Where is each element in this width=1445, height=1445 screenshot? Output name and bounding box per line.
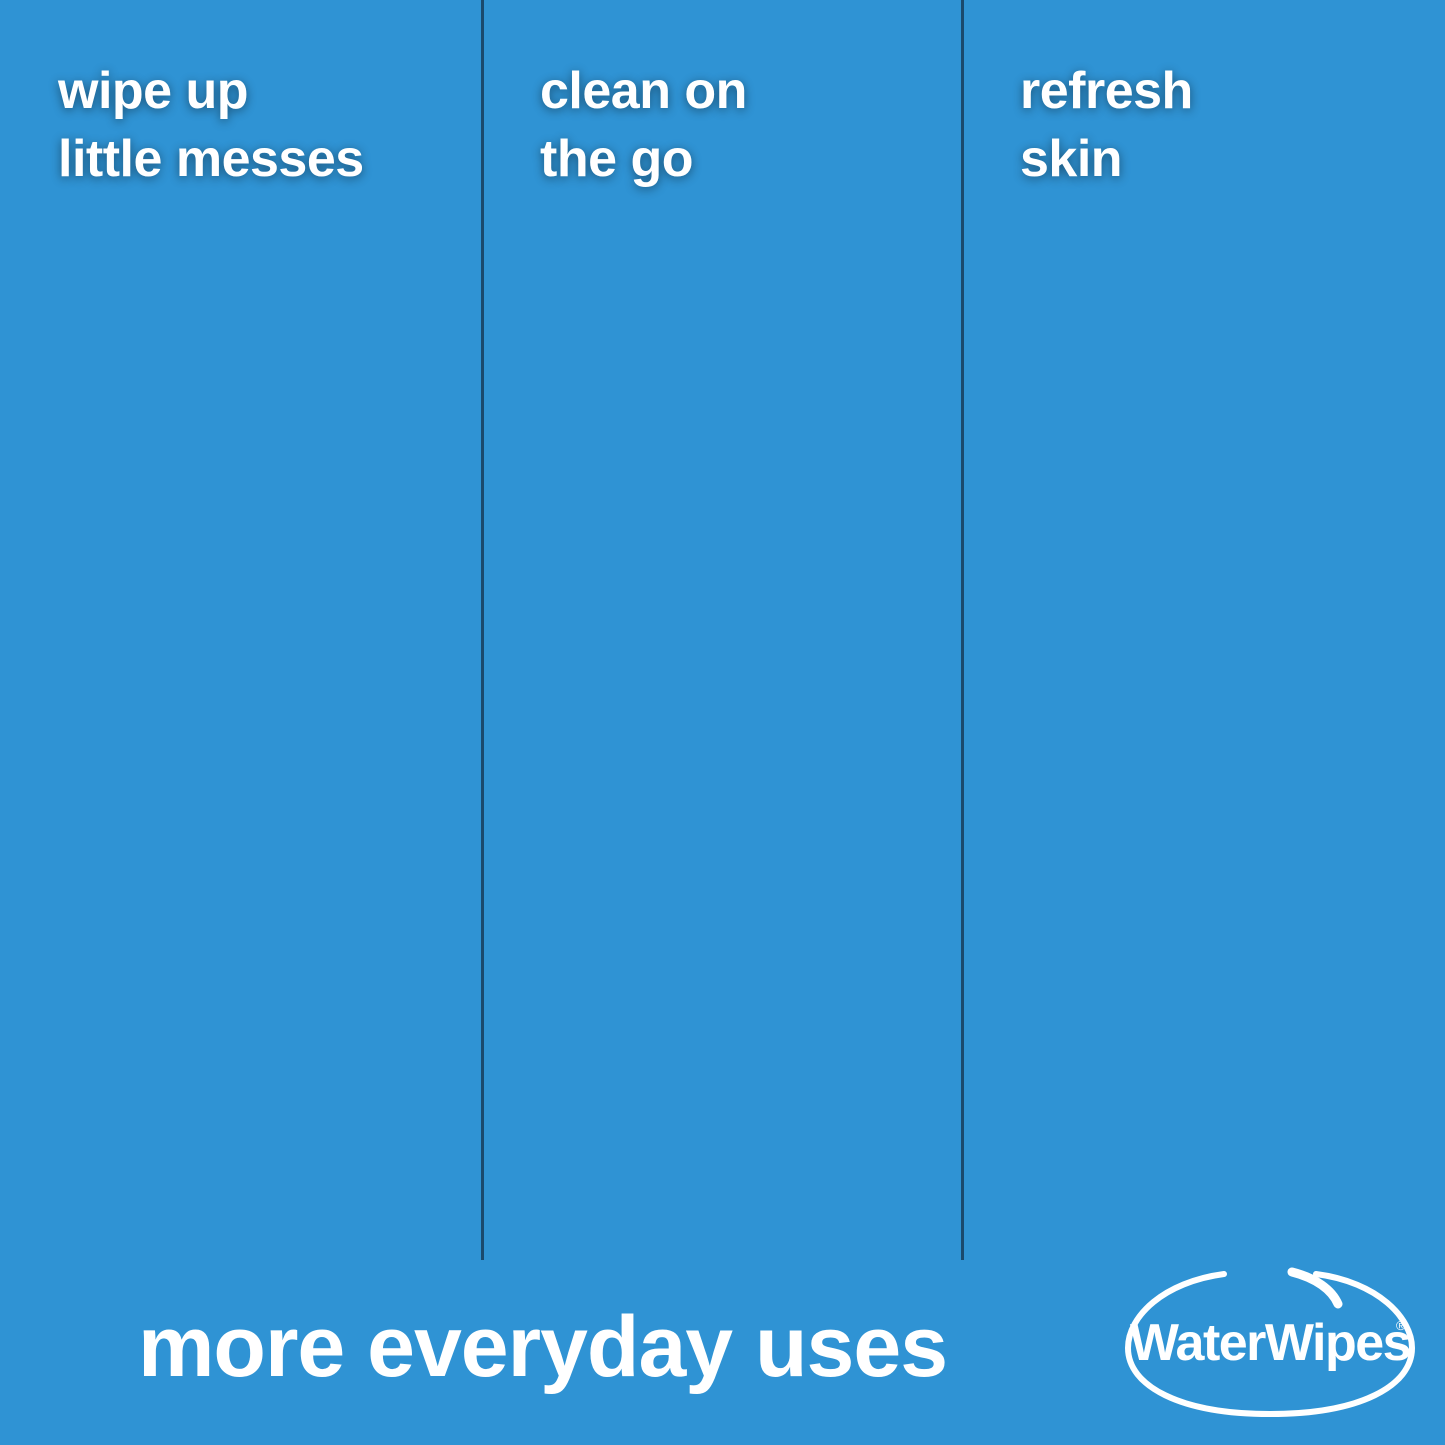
toddler-right-eye [242, 617, 268, 634]
panel-divider-1 [481, 0, 484, 1260]
smashed-cake [128, 478, 333, 588]
caption-2-line-2: the go [540, 126, 747, 194]
snap-button [658, 962, 680, 984]
frosting-splat [96, 646, 140, 680]
caption-2-line-1: clean on [540, 58, 747, 126]
baby-toe [1315, 852, 1349, 892]
logo-word-water: Water [1130, 1314, 1266, 1372]
baby-left-eye [1163, 440, 1207, 476]
knuckle [812, 1030, 890, 1092]
panel-divider-2 [961, 0, 964, 1260]
footer-tagline: more everyday uses [0, 1250, 1085, 1445]
scrunchie-bead [1295, 112, 1309, 126]
baby-mouth [1203, 548, 1269, 584]
caption-clean-on-the-go: clean on the go [540, 58, 747, 193]
toddler-left-eye [168, 618, 194, 635]
baby-right-eye [1259, 440, 1303, 476]
frosting-splat [150, 668, 220, 712]
svg-text:WaterWipes: WaterWipes [1130, 1314, 1410, 1372]
snap-button [658, 1062, 680, 1084]
footer-bar: more everyday uses WaterWipes ® [0, 1250, 1445, 1445]
baby-cheek-blush [1131, 512, 1201, 552]
logo-trademark: ® [1396, 1318, 1406, 1333]
frosting-splat [200, 840, 296, 892]
waterwipes-logo: WaterWipes ® [1120, 1256, 1420, 1426]
caption-refresh-skin: refresh skin [1020, 58, 1193, 193]
chalk-number-one-base [55, 195, 246, 256]
frosting-splat [228, 676, 292, 716]
baby-hair [1125, 270, 1375, 380]
knuckle [892, 828, 948, 874]
caption-1-line-2: little messes [58, 126, 364, 194]
knuckle [834, 806, 888, 850]
scrunchie-bead [1253, 78, 1269, 94]
logo-word-wipes: Wipes [1265, 1314, 1410, 1372]
baby-nose [1213, 496, 1255, 526]
caption-3-line-1: refresh [1020, 58, 1193, 126]
frosting-splat [352, 640, 402, 680]
waterwipes-promo-poster: wipe up little messes clean on the go re… [0, 0, 1445, 1445]
caption-wipe-up-little-messes: wipe up little messes [58, 58, 364, 193]
frosting-splat [182, 730, 268, 778]
caption-3-line-2: skin [1020, 126, 1193, 194]
caption-1-line-1: wipe up [58, 58, 364, 126]
hair-scrunchie [1235, 62, 1345, 162]
newborn-nose [668, 648, 714, 678]
